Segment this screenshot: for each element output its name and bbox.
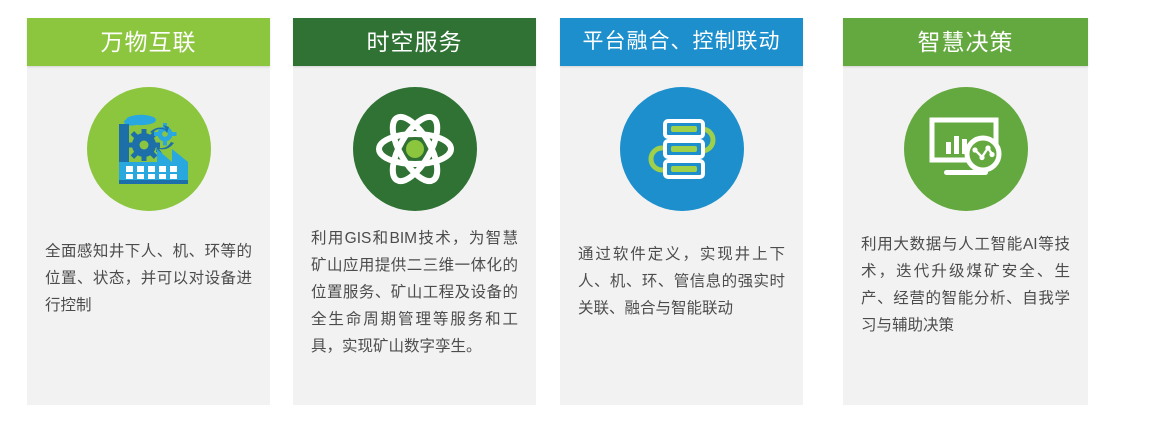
card-body-wanwu-hulian: 全面感知井下人、机、环等的位置、状态，并可以对设备进行控制 — [27, 66, 270, 405]
card-title-pingtai-ronghe: 平台融合、控制联动 — [560, 18, 803, 66]
factory-gears-icon — [110, 113, 188, 185]
icon-wrap — [843, 66, 1088, 211]
card-description-wanwu-hulian: 全面感知井下人、机、环等的位置、状态，并可以对设备进行控制 — [45, 238, 252, 319]
icon-circle-zhihui-juece — [904, 87, 1028, 211]
card-title-wanwu-hulian: 万物互联 — [27, 18, 270, 66]
server-stack-icon — [643, 113, 721, 185]
icon-wrap — [293, 66, 536, 211]
card-description-zhihui-juece: 利用大数据与人工智能AI等技术，迭代升级煤矿安全、生产、经营的智能分析、自我学习… — [861, 231, 1070, 339]
card-body-pingtai-ronghe: 通过软件定义，实现井上下人、机、环、管信息的强实时关联、融合与智能联动 — [560, 66, 803, 405]
card-description-shikong-fuwu: 利用GIS和BIM技术，为智慧矿山应用提供二三维一体化的位置服务、矿山工程及设备… — [311, 225, 518, 360]
card-description-pingtai-ronghe: 通过软件定义，实现井上下人、机、环、管信息的强实时关联、融合与智能联动 — [578, 241, 785, 322]
card-body-shikong-fuwu: 利用GIS和BIM技术，为智慧矿山应用提供二三维一体化的位置服务、矿山工程及设备… — [293, 66, 536, 405]
analytics-dashboard-icon — [926, 116, 1006, 182]
capability-card-board: 万物互联 — [0, 0, 1150, 423]
icon-circle-wanwu-hulian — [87, 87, 211, 211]
capability-card-zhihui-juece[interactable]: 智慧决策 — [843, 18, 1088, 405]
atom-icon — [375, 113, 455, 185]
card-title-shikong-fuwu: 时空服务 — [293, 18, 536, 66]
capability-card-wanwu-hulian[interactable]: 万物互联 — [27, 18, 270, 405]
icon-circle-shikong-fuwu — [353, 87, 477, 211]
icon-wrap — [560, 66, 803, 211]
capability-card-pingtai-ronghe[interactable]: 平台融合、控制联动 — [560, 18, 803, 405]
card-title-zhihui-juece: 智慧决策 — [843, 18, 1088, 66]
capability-card-shikong-fuwu[interactable]: 时空服务 利用GIS和BI — [293, 18, 536, 405]
icon-wrap — [27, 66, 270, 211]
card-body-zhihui-juece: 利用大数据与人工智能AI等技术，迭代升级煤矿安全、生产、经营的智能分析、自我学习… — [843, 66, 1088, 405]
icon-circle-pingtai-ronghe — [620, 87, 744, 211]
